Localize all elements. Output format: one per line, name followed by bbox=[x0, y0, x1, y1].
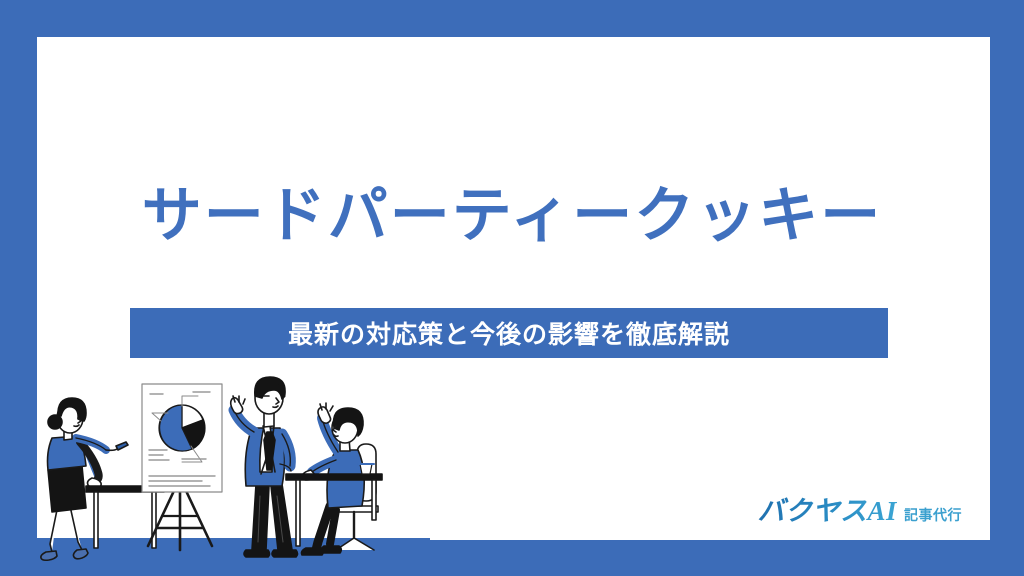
subtitle-banner: 最新の対応策と今後の影響を徹底解説 bbox=[130, 308, 888, 358]
page-title: サードパーティークッキー bbox=[0, 183, 1024, 249]
figure-presenting-man bbox=[231, 377, 298, 557]
brand-name: バクヤスAI bbox=[757, 489, 897, 528]
slide-canvas: サードパーティークッキー 最新の対応策と今後の影響を徹底解説 バクヤスAI 記事… bbox=[0, 0, 1024, 576]
pie-chart bbox=[159, 405, 205, 451]
brand-service-label: 記事代行 bbox=[904, 505, 962, 525]
floor-strip bbox=[30, 538, 430, 576]
business-presentation-illustration bbox=[30, 366, 430, 576]
subtitle-text: 最新の対応策と今後の影響を徹底解説 bbox=[288, 315, 730, 351]
brand-logo: バクヤスAI 記事代行 bbox=[757, 489, 962, 528]
illustration-svg bbox=[30, 366, 430, 576]
figure-standing-woman bbox=[41, 398, 128, 560]
